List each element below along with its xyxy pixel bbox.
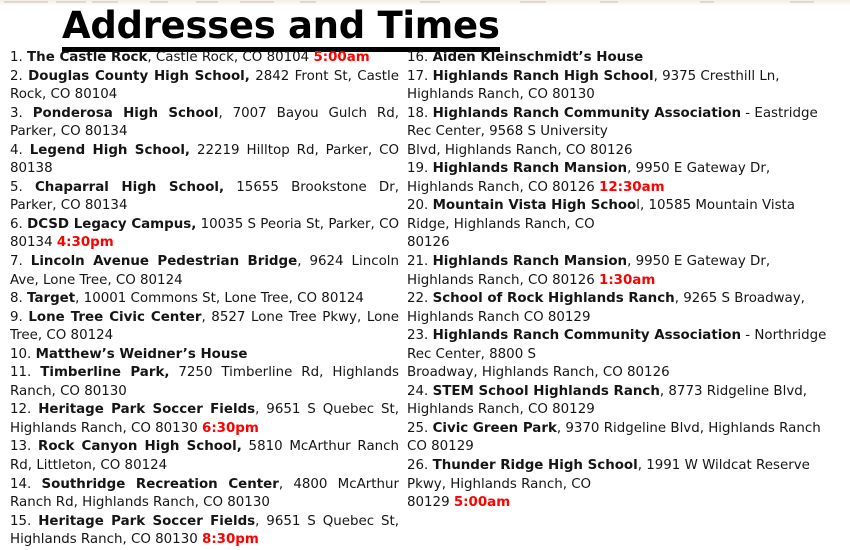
address-entry: 6. DCSD Legacy Campus, 10035 S Peoria St… — [10, 216, 399, 253]
venue-name: Highlands Ranch Mansion — [433, 161, 628, 176]
venue-name: Southridge Recreation Center — [42, 477, 279, 492]
document-body: Addresses and Times 1. The Castle Rock, … — [0, 0, 850, 541]
entry-number: 17. — [407, 69, 433, 84]
address-entry: 18. Highlands Ranch Community Associatio… — [407, 105, 831, 161]
venue-name: Aiden Kleinschmidt’s House — [433, 50, 644, 65]
address-entry: 4. Legend High School, 22219 Hilltop Rd,… — [10, 142, 399, 179]
venue-name: Highlands Ranch Mansion — [433, 254, 628, 269]
entry-number: 2. — [10, 69, 28, 84]
street-address: Broadway, Highlands Ranch, CO 80126 — [407, 365, 670, 380]
venue-name: Rock Canyon High School, — [38, 439, 242, 454]
address-entry: 12. Heritage Park Soccer Fields, 9651 S … — [10, 401, 399, 438]
entry-number: 7. — [10, 254, 31, 269]
entry-number: 25. — [407, 421, 433, 436]
street-address: 80129 — [407, 495, 454, 510]
address-entry: 3. Ponderosa High School, 7007 Bayou Gul… — [10, 105, 399, 142]
document-page: Addresses and Times 1. The Castle Rock, … — [0, 0, 850, 541]
entry-number: 10. — [10, 347, 36, 362]
entry-number: 26. — [407, 458, 433, 473]
street-address: , 10001 Commons St, Lone Tree, CO 80124 — [75, 291, 364, 306]
entry-number: 15. — [10, 514, 38, 529]
event-time: 1:30am — [599, 273, 655, 288]
address-entry: 24. STEM School Highlands Ranch, 8773 Ri… — [407, 383, 831, 420]
entry-number: 22. — [407, 291, 433, 306]
street-address: Blvd, Highlands Ranch, CO 80126 — [407, 143, 633, 158]
venue-name: Highlands Ranch Community Association — [433, 328, 741, 343]
street-address: 80126 — [407, 235, 450, 250]
entry-number: 8. — [10, 291, 27, 306]
page-title: Addresses and Times — [62, 6, 500, 52]
event-time: 8:30pm — [202, 532, 259, 547]
entry-number: 19. — [407, 161, 433, 176]
entry-number: 12. — [10, 402, 38, 417]
event-time: 12:30am — [599, 180, 665, 195]
entry-number: 11. — [10, 365, 40, 380]
address-entry: 11. Timberline Park, 7250 Timberline Rd,… — [10, 364, 399, 401]
entry-number: 3. — [10, 106, 33, 121]
venue-name: Heritage Park Soccer Fields — [38, 514, 255, 529]
address-entry: 14. Southridge Recreation Center, 4800 M… — [10, 476, 399, 513]
entry-number: 24. — [407, 384, 433, 399]
address-entry: 19. Highlands Ranch Mansion, 9950 E Gate… — [407, 160, 831, 197]
address-entry: 10. Matthew’s Weidner’s House — [10, 346, 399, 365]
address-entry: 9. Lone Tree Civic Center, 8527 Lone Tre… — [10, 309, 399, 346]
street-address: , Castle Rock, CO 80104 — [147, 50, 313, 65]
address-entry: 7. Lincoln Avenue Pedestrian Bridge, 962… — [10, 253, 399, 290]
event-time: 5:00am — [313, 50, 369, 65]
entry-number: 9. — [10, 310, 28, 325]
entry-number: 20. — [407, 198, 433, 213]
venue-name: Lincoln Avenue Pedestrian Bridge — [31, 254, 297, 269]
venue-name: Timberline Park, — [40, 365, 169, 380]
address-entry: 25. Civic Green Park, 9370 Ridgeline Blv… — [407, 420, 831, 457]
venue-name: Target — [27, 291, 75, 306]
entry-number: 18. — [407, 106, 433, 121]
venue-name: Chaparral High School, — [35, 180, 224, 195]
address-entry: 22. School of Rock Highlands Ranch, 9265… — [407, 290, 831, 327]
venue-name: Douglas County High School, — [28, 69, 250, 84]
address-entry: 20. Mountain Vista High School, 10585 Mo… — [407, 197, 831, 253]
entry-number: 1. — [10, 50, 27, 65]
entry-number: 13. — [10, 439, 38, 454]
entry-number: 21. — [407, 254, 433, 269]
venue-name: Ponderosa High School — [33, 106, 219, 121]
entry-number: 23. — [407, 328, 433, 343]
address-entry: 17. Highlands Ranch High School, 9375 Cr… — [407, 68, 831, 105]
address-entry: 13. Rock Canyon High School, 5810 McArth… — [10, 438, 399, 475]
address-entry: 21. Highlands Ranch Mansion, 9950 E Gate… — [407, 253, 831, 290]
venue-name: Mountain Vista High Schoo — [433, 198, 637, 213]
address-entry: 15. Heritage Park Soccer Fields, 9651 S … — [10, 513, 399, 550]
entry-number: 4. — [10, 143, 30, 158]
address-entry: 5. Chaparral High School, 15655 Brooksto… — [10, 179, 399, 216]
address-entry: 16. Aiden Kleinschmidt’s House — [407, 49, 831, 68]
entry-number: 14. — [10, 477, 42, 492]
address-list-right-column: 16. Aiden Kleinschmidt’s House17. Highla… — [407, 49, 831, 513]
address-entry: 2. Douglas County High School, 2842 Fron… — [10, 68, 399, 105]
venue-name: Lone Tree Civic Center — [28, 310, 201, 325]
address-entry: 8. Target, 10001 Commons St, Lone Tree, … — [10, 290, 399, 309]
venue-name: The Castle Rock — [27, 50, 147, 65]
venue-name: Matthew’s Weidner’s House — [36, 347, 248, 362]
address-entry: 1. The Castle Rock, Castle Rock, CO 8010… — [10, 49, 399, 68]
event-time: 5:00am — [454, 495, 510, 510]
address-entry: 23. Highlands Ranch Community Associatio… — [407, 327, 831, 383]
address-list-left-column: 1. The Castle Rock, Castle Rock, CO 8010… — [10, 49, 399, 550]
venue-name: School of Rock Highlands Ranch — [433, 291, 675, 306]
venue-name: Highlands Ranch Community Association — [433, 106, 741, 121]
entry-number: 16. — [407, 50, 433, 65]
entry-number: 6. — [10, 217, 27, 232]
event-time: 6:30pm — [202, 421, 259, 436]
venue-name: Heritage Park Soccer Fields — [38, 402, 255, 417]
event-time: 4:30pm — [57, 235, 114, 250]
venue-name: Civic Green Park — [433, 421, 557, 436]
venue-name: DCSD Legacy Campus, — [27, 217, 196, 232]
entry-number: 5. — [10, 180, 35, 195]
venue-name: Highlands Ranch High School — [433, 69, 654, 84]
venue-name: Legend High School, — [30, 143, 190, 158]
address-entry: 26. Thunder Ridge High School, 1991 W Wi… — [407, 457, 831, 513]
venue-name: STEM School Highlands Ranch — [433, 384, 660, 399]
venue-name: Thunder Ridge High School — [433, 458, 638, 473]
